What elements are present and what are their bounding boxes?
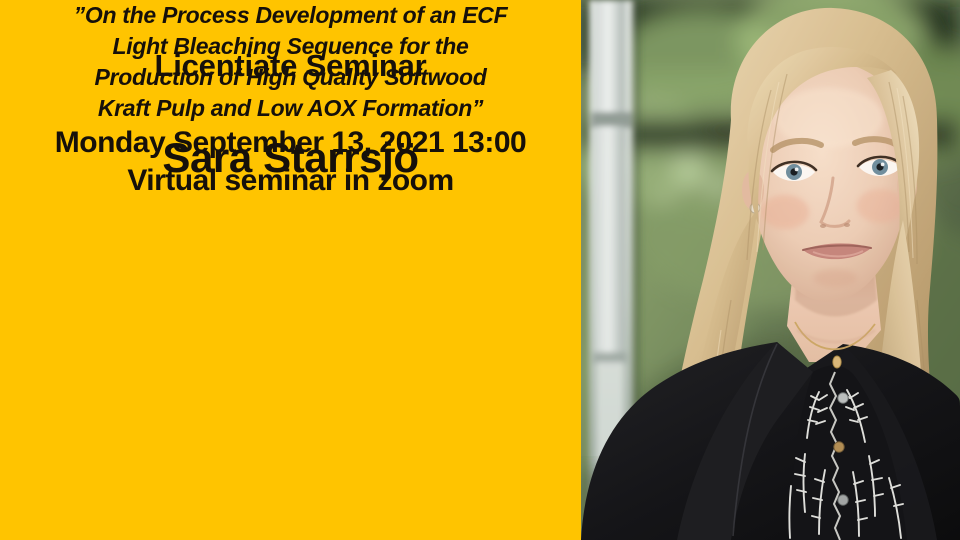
seminar-kicker: Licentiate Seminar: [0, 48, 581, 84]
portrait-illustration: [581, 0, 960, 540]
thesis-title-line: ”On the Process Development of an ECF: [0, 0, 581, 31]
speaker-name: Sara Starrsjö: [0, 134, 581, 182]
seminar-poster: Licentiate Seminar Sara Starrsjö ”On the…: [0, 0, 960, 540]
yellow-text-panel: Licentiate Seminar Sara Starrsjö ”On the…: [0, 0, 581, 540]
speaker-portrait-photo: [581, 0, 960, 540]
thesis-title-line: Kraft Pulp and Low AOX Formation”: [0, 93, 581, 124]
